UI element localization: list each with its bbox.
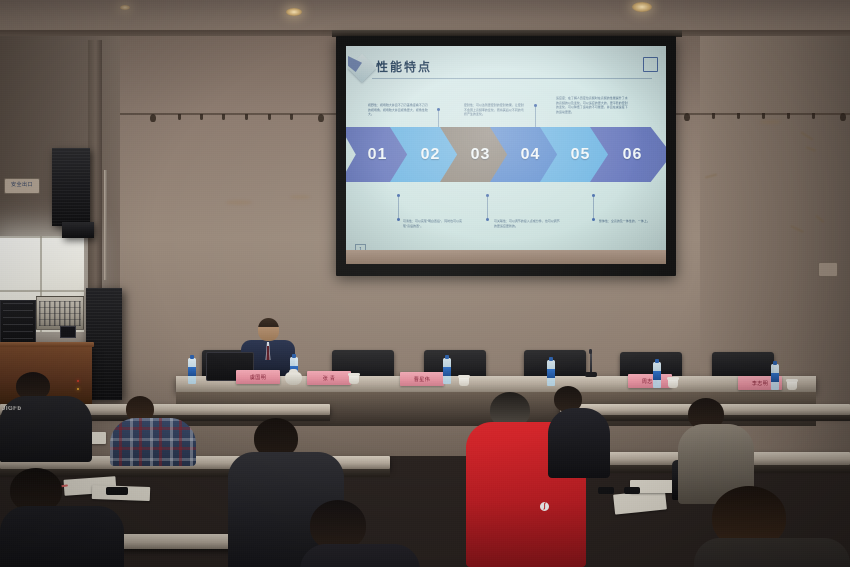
person-torso: [0, 506, 124, 567]
slide: 性能特点 视野性：视场较大并且不刀刃差角度看不刀刃的视场角，视场较大并且视角更大…: [346, 46, 666, 264]
connector-dot: [534, 104, 537, 107]
process-step-number: 06: [623, 146, 643, 164]
panel-speaker-head: [258, 318, 279, 341]
rail-hook: [200, 114, 203, 120]
bottle-label: [771, 373, 779, 382]
microphone-head: [589, 349, 592, 354]
screen-surface: 性能特点 视野性：视场较大并且不刀刃差角度看不刀刃的视场角，视场较大并且视角更大…: [346, 46, 666, 264]
person-head: [310, 500, 366, 550]
nameplate: 周志勇: [628, 374, 672, 388]
teapot-lid: [289, 369, 298, 373]
tea-cup: [349, 375, 359, 384]
slide-blurb-top: 密封性：可以达到更密封的密封效果，让密封不会因上高频率的变化，而将其后以不同的弯…: [464, 103, 524, 117]
nameplate-label: 张 青: [323, 375, 336, 382]
process-step-number: 05: [571, 146, 591, 164]
rail-hook: [318, 114, 324, 122]
equipment-rack: [0, 300, 36, 346]
slide-title: 性能特点: [376, 58, 432, 75]
rail-hook: [150, 114, 156, 122]
process-step-number: 02: [421, 146, 441, 164]
cup-lid: [348, 373, 360, 376]
rail-hook: [245, 114, 248, 120]
rail-hook: [222, 114, 225, 120]
tea-cup: [787, 381, 797, 390]
water-bottle: [188, 358, 196, 384]
bottle-cap: [292, 354, 296, 358]
smartphone[interactable]: [106, 487, 128, 495]
gooseneck-microphone[interactable]: [585, 372, 597, 377]
smartphone[interactable]: [624, 487, 640, 494]
bottle-cap: [655, 359, 659, 363]
rail-hook: [737, 113, 740, 119]
microphone-stem: [590, 352, 592, 374]
ceiling-speaker-left: [52, 148, 90, 226]
nameplate: 曹星伟: [400, 372, 444, 386]
cup-lid: [667, 377, 679, 380]
bottle-label: [188, 367, 196, 376]
nameplate-label: 李志明: [752, 380, 768, 387]
hoodie-logo: ʃ: [540, 502, 549, 511]
nameplate-label: 虞国明: [250, 374, 266, 381]
monitor-screen-av: [60, 326, 76, 338]
wall-mark: [290, 195, 310, 199]
slide-blurb-bottom: 整体性：全高的及一体性的，一体上。: [599, 219, 659, 224]
cup-lid: [458, 375, 470, 378]
connector-dot: [397, 218, 400, 221]
rail-hook: [812, 113, 815, 119]
wall-mark: [760, 120, 780, 124]
screen-lower-dead-area: [346, 250, 666, 264]
connector-line: [487, 197, 488, 219]
window-mullion: [0, 290, 84, 292]
bottle-cap: [445, 355, 449, 359]
tea-cup: [459, 377, 469, 386]
slide-blurb-bottom: 可清性：可以实现"明白置后"，同时也可以实现"高后的置"。: [403, 219, 469, 228]
status-led: [77, 388, 79, 390]
bottle-cap: [773, 361, 777, 365]
person-torso: [110, 418, 196, 466]
rail-hook: [178, 114, 181, 120]
ceiling-speaker-bracket: [62, 222, 94, 238]
water-bottle: [771, 364, 779, 390]
projection-screen: 性能特点 视野性：视场较大并且不刀刃差角度看不刀刃的视场角，视场较大并且视角更大…: [336, 36, 676, 276]
connector-line: [398, 197, 399, 219]
person-torso: [694, 538, 850, 567]
mixer-controls[interactable]: [39, 301, 81, 326]
bottle-label: [653, 371, 661, 380]
slide-divider: [372, 78, 652, 79]
wall-mark: [226, 200, 252, 205]
status-led: [77, 380, 79, 382]
slide-blurb-top: 视野性：视场较大并且不刀刃差角度看不刀刃的视场角，视场较大并且视角更大，视角性较…: [368, 103, 428, 117]
water-bottle: [547, 360, 555, 386]
process-arrow-band: 01 02 03 04 05 06: [346, 127, 666, 182]
slide-blurb-bottom: 可关联性：可以调节的接入点成分件，也可以调节的更适应更新的。: [494, 219, 560, 228]
ceiling-downlight: [632, 2, 652, 12]
ceiling-downlight: [286, 8, 302, 16]
bottle-label: [443, 367, 451, 376]
water-bottle: [443, 358, 451, 384]
rail-hook: [684, 113, 690, 121]
connector-dot: [437, 108, 440, 111]
rail-hook: [290, 114, 293, 120]
conference-room-photo: 安全出口 性能特点 视野性：视场较大并且不刀刃差角度看不刀刃的视场角，视场较大并…: [0, 0, 850, 567]
wall-socket[interactable]: [818, 262, 838, 277]
bottle-cap: [549, 357, 553, 361]
water-bottle: [653, 362, 661, 388]
exit-sign-label: 安全出口: [11, 183, 33, 189]
rail-hook: [787, 113, 790, 119]
connector-line: [593, 197, 594, 219]
rail-hook: [840, 113, 846, 121]
podium-top: [0, 342, 94, 347]
rail-hook: [268, 114, 271, 120]
process-step-number: 04: [521, 146, 541, 164]
audio-mixing-console[interactable]: [36, 296, 84, 330]
speaker-grille: [52, 148, 90, 226]
ceiling-downlight: [120, 5, 130, 10]
tea-cup: [668, 379, 678, 388]
nameplate: 虞国明: [236, 370, 280, 384]
rack-units: [3, 303, 33, 343]
person-torso: [548, 408, 610, 478]
cup-lid: [786, 379, 798, 382]
exit-sign: 安全出口: [4, 178, 40, 194]
nameplate-label: 曹星伟: [414, 376, 430, 383]
teapot: [285, 372, 302, 385]
process-step-number: 03: [471, 146, 491, 164]
smartphone[interactable]: [598, 487, 614, 494]
rail-hook: [712, 113, 715, 119]
jacket-text: JIGFb: [2, 406, 22, 412]
bottle-label: [547, 369, 555, 378]
corner-square-icon: [643, 57, 658, 72]
person-torso: [300, 544, 420, 567]
nameplate: 张 青: [307, 371, 351, 385]
process-step-number: 01: [368, 146, 388, 164]
rail-hook: [762, 113, 765, 119]
slide-blurb-top: 适应度：在了解人员定位高频时在高频的性能提升了水的高频的以及变化，可以适应的更大…: [556, 96, 628, 114]
conduit-pipe: [104, 170, 107, 280]
connector-dot: [486, 218, 489, 221]
paper-sheet: [613, 489, 667, 514]
connector-dot: [592, 218, 595, 221]
bottle-cap: [190, 355, 194, 359]
